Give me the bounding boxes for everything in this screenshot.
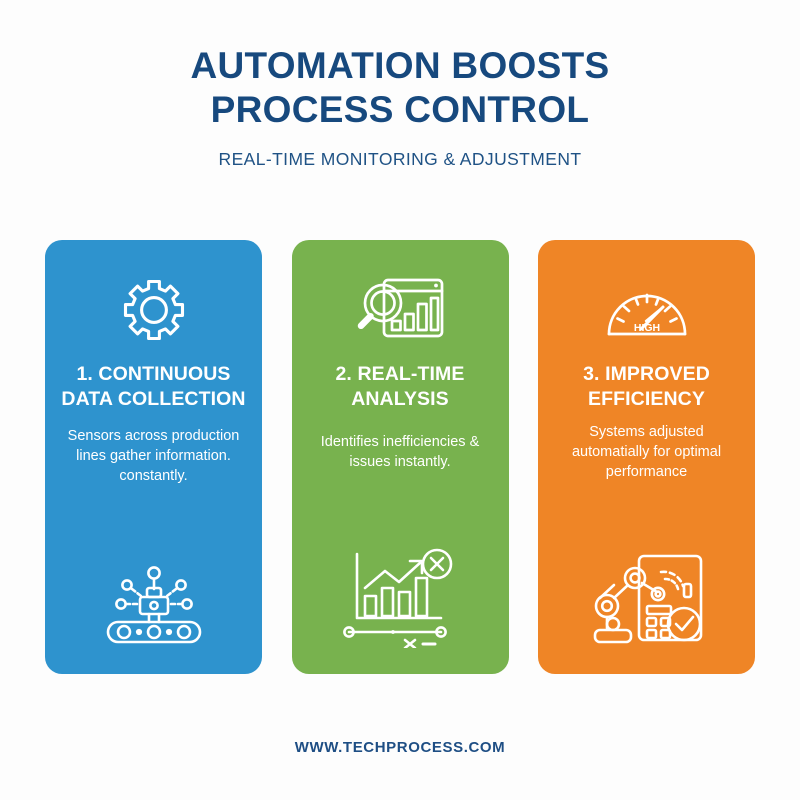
header: AUTOMATION BOOSTS PROCESS CONTROL REAL-T… xyxy=(0,44,800,170)
card-1-body: Sensors across production lines gather i… xyxy=(57,426,250,486)
card-real-time-analysis[interactable]: 2. REAL-TIME ANALYSIS Identifies ineffic… xyxy=(292,240,509,674)
growth-chart-alert-icon xyxy=(292,548,509,648)
card-2-body: Identifies inefficiencies & issues insta… xyxy=(304,432,497,472)
card-3-body: Systems adjusted automatially for optima… xyxy=(550,422,743,482)
gauge-high-icon: HIGH xyxy=(605,262,689,358)
title-line-2: PROCESS CONTROL xyxy=(0,88,800,132)
gear-icon xyxy=(118,262,190,358)
magnifier-chart-icon xyxy=(354,262,446,358)
card-row: 1. CONTINUOUS DATA COLLECTION Sensors ac… xyxy=(45,240,755,674)
card-continuous-data-collection[interactable]: 1. CONTINUOUS DATA COLLECTION Sensors ac… xyxy=(45,240,262,674)
page-subtitle: REAL-TIME MONITORING & ADJUSTMENT xyxy=(0,149,800,170)
card-2-heading: 2. REAL-TIME ANALYSIS xyxy=(304,362,497,412)
title-line-1: AUTOMATION BOOSTS xyxy=(191,45,610,86)
infographic-canvas: AUTOMATION BOOSTS PROCESS CONTROL REAL-T… xyxy=(0,0,800,800)
card-1-heading: 1. CONTINUOUS DATA COLLECTION xyxy=(57,362,250,412)
page-title: AUTOMATION BOOSTS PROCESS CONTROL xyxy=(0,44,800,132)
card-improved-efficiency[interactable]: HIGH 3. IMPROVED EFFICIENCY Systems adju… xyxy=(538,240,755,674)
footer-website[interactable]: WWW.TECHPROCESS.COM xyxy=(0,739,800,756)
gauge-label: HIGH xyxy=(633,322,659,334)
robot-arm-panel-icon xyxy=(538,552,755,648)
conveyor-sensor-icon xyxy=(45,564,262,648)
card-3-heading: 3. IMPROVED EFFICIENCY xyxy=(550,362,743,412)
